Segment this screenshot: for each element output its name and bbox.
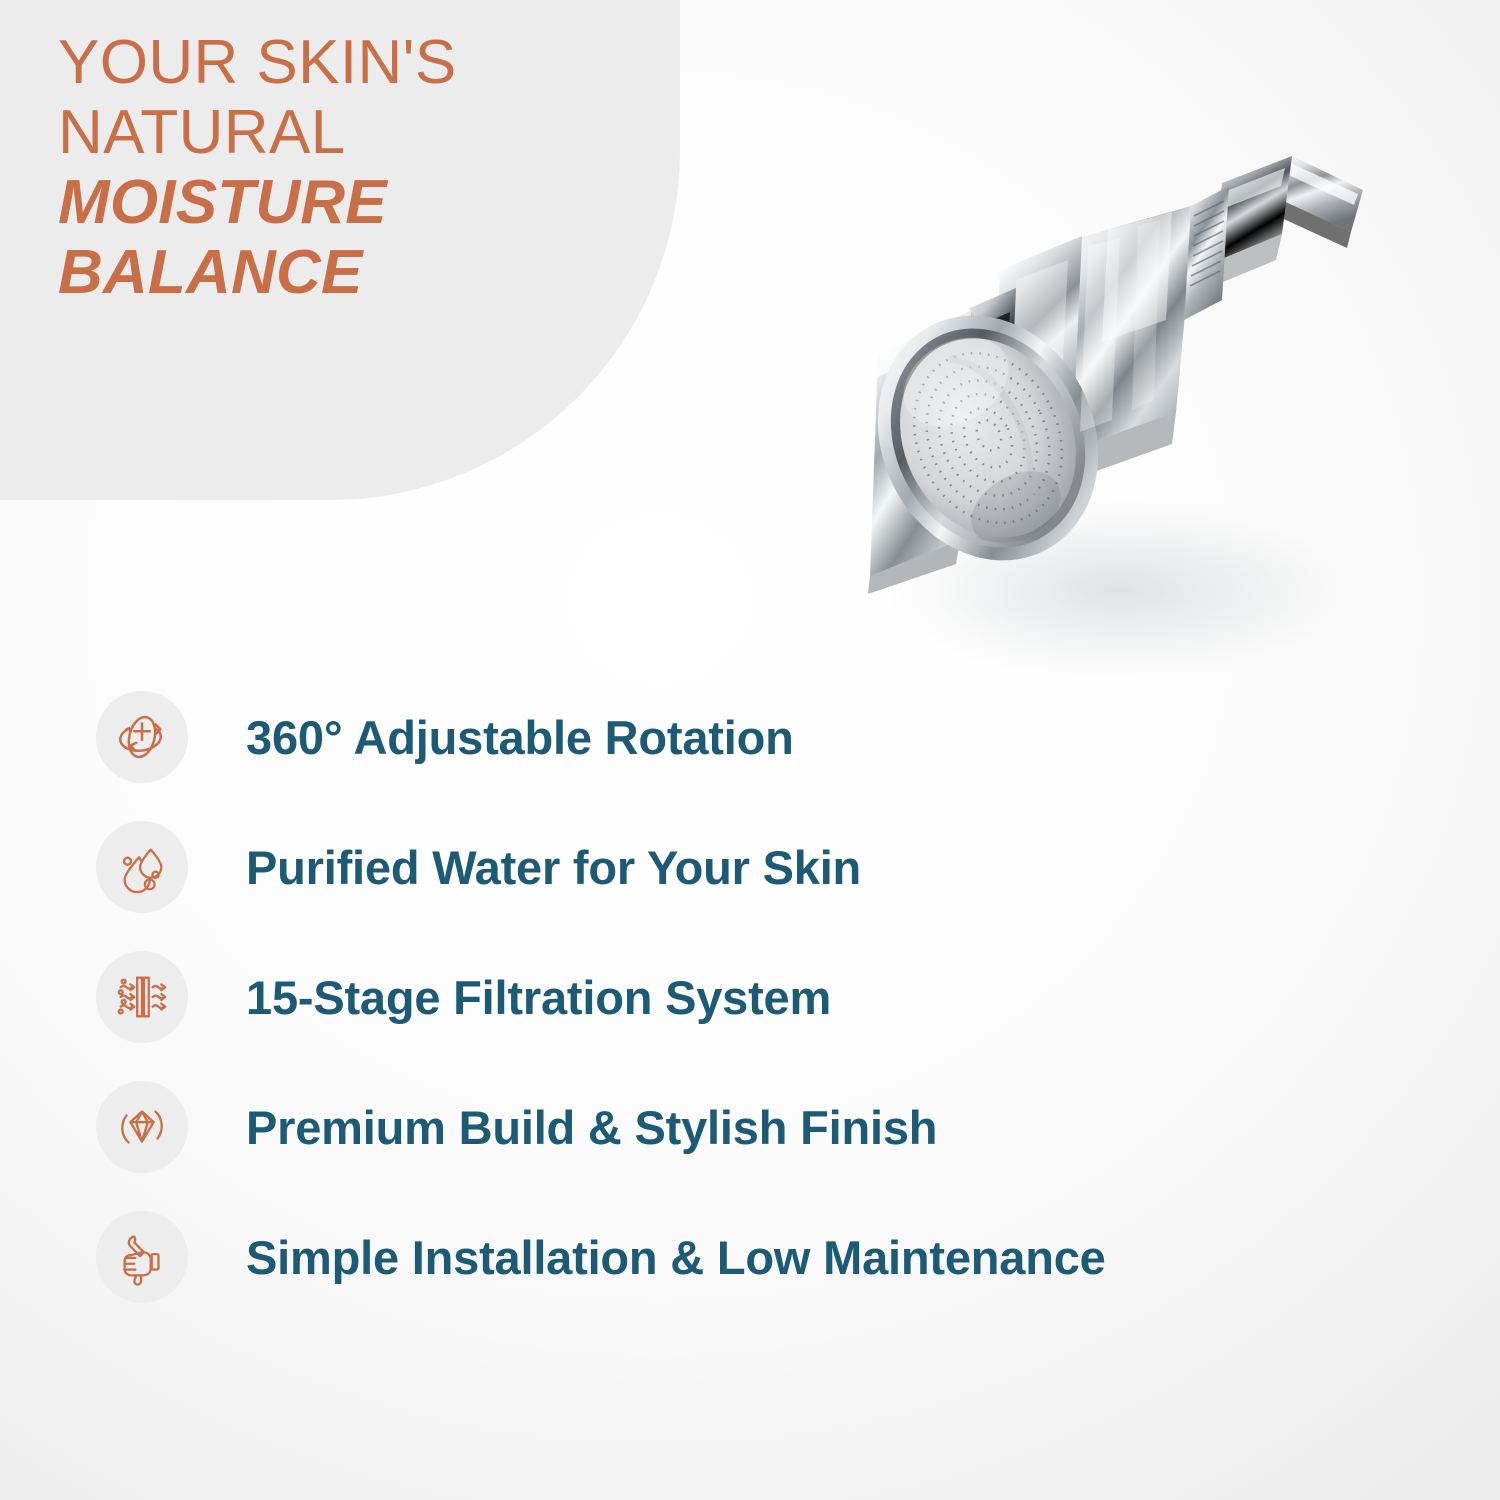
filtration-membrane-icon xyxy=(113,968,171,1026)
rotation-360-icon xyxy=(113,708,171,766)
feature-label: 360° Adjustable Rotation xyxy=(246,710,794,765)
feature-row: Simple Installation & Low Maintenance xyxy=(96,1192,1436,1322)
feature-label: Simple Installation & Low Maintenance xyxy=(246,1230,1106,1285)
feature-list: 360° Adjustable Rotation Purified Water … xyxy=(96,672,1436,1322)
water-droplets-icon xyxy=(113,838,171,896)
feature-icon-badge xyxy=(96,951,188,1043)
feature-row: 15-Stage Filtration System xyxy=(96,932,1436,1062)
feature-label: Premium Build & Stylish Finish xyxy=(246,1100,937,1155)
infographic-canvas: YOUR SKIN'S NATURAL MOISTURE BALANCE xyxy=(0,0,1500,1500)
hand-wrench-icon xyxy=(113,1228,171,1286)
headline-panel: YOUR SKIN'S NATURAL MOISTURE BALANCE xyxy=(0,0,680,500)
feature-icon-badge xyxy=(96,821,188,913)
feature-label: 15-Stage Filtration System xyxy=(246,970,831,1025)
feature-row: 360° Adjustable Rotation xyxy=(96,672,1436,802)
feature-row: Purified Water for Your Skin xyxy=(96,802,1436,932)
feature-row: Premium Build & Stylish Finish xyxy=(96,1062,1436,1192)
diamond-quality-icon xyxy=(113,1098,171,1156)
feature-icon-badge xyxy=(96,1211,188,1303)
headline-line-2: NATURAL xyxy=(58,98,598,168)
shower-head-illustration xyxy=(820,120,1420,700)
headline-line-4: BALANCE xyxy=(58,238,598,308)
headline-line-1: YOUR SKIN'S xyxy=(58,28,598,98)
feature-label: Purified Water for Your Skin xyxy=(246,840,861,895)
headline: YOUR SKIN'S NATURAL MOISTURE BALANCE xyxy=(58,28,598,308)
product-image xyxy=(820,120,1420,700)
feature-icon-badge xyxy=(96,691,188,783)
feature-icon-badge xyxy=(96,1081,188,1173)
headline-line-3: MOISTURE xyxy=(58,168,598,238)
